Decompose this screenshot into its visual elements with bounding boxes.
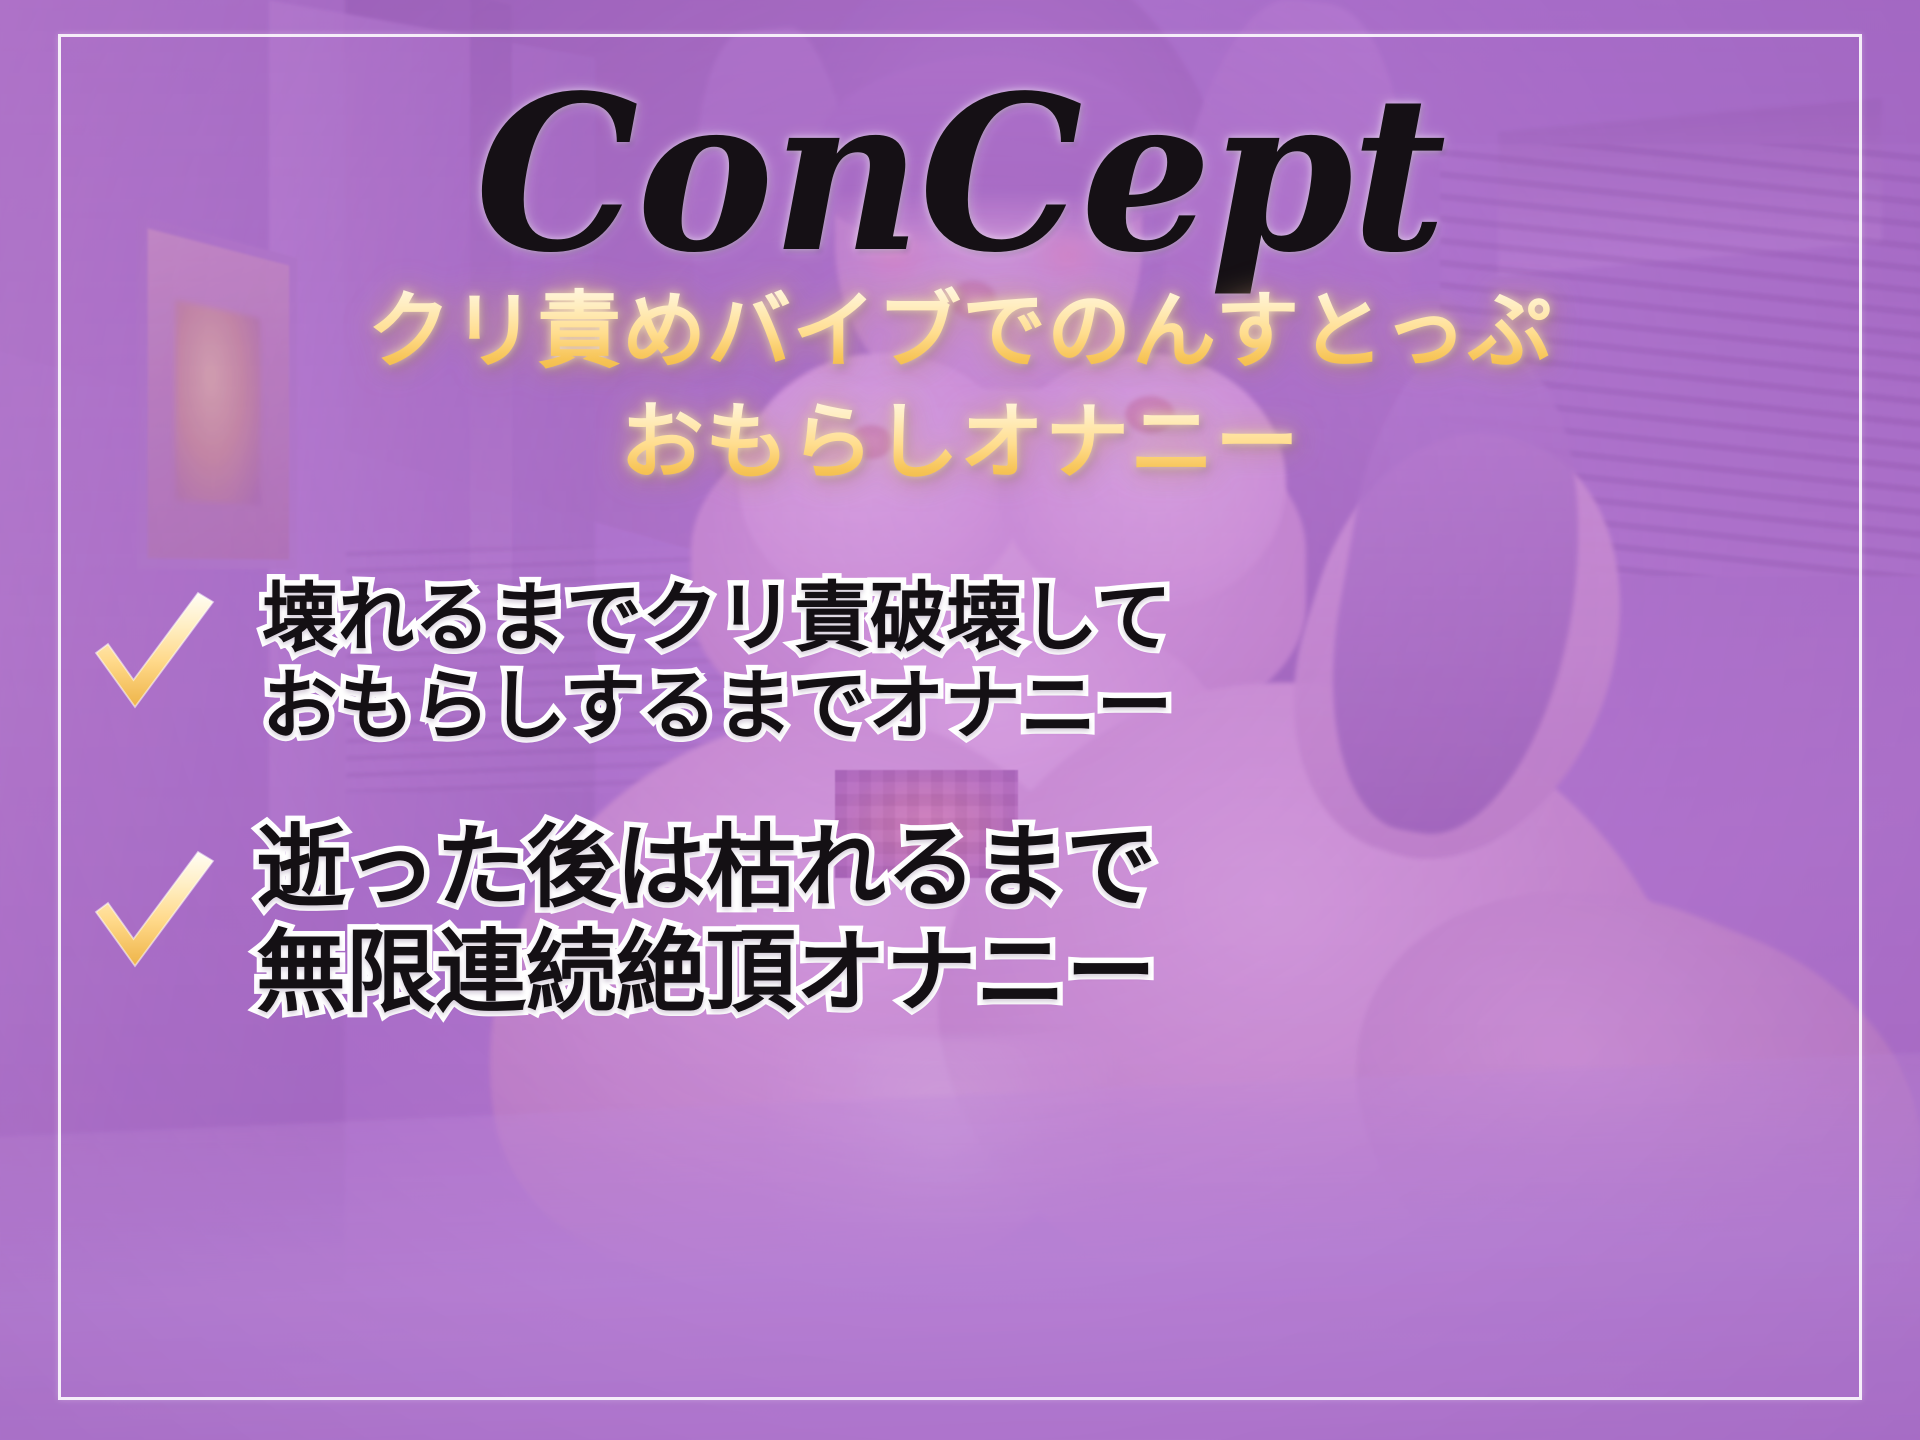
- list-item-line-1: 壊れるまでクリ責破壊して: [262, 574, 1172, 662]
- check-icon: [78, 846, 228, 996]
- list-item-line-2: 無限連続絶頂オナニー: [256, 921, 1156, 1025]
- card-content: ConCept クリ責めバイブでのんすとっぷ おもらしオナニー: [0, 0, 1920, 1440]
- concept-card: ConCept クリ責めバイブでのんすとっぷ おもらしオナニー: [0, 0, 1920, 1440]
- headline-line-2: おもらしオナニー: [367, 387, 1553, 498]
- check-icon: [78, 587, 228, 737]
- headline-line-1: クリ責めバイブでのんすとっぷ: [367, 276, 1553, 387]
- page-title: ConCept: [475, 66, 1444, 284]
- headline-block: クリ責めバイブでのんすとっぷ おもらしオナニー: [367, 276, 1553, 498]
- list-item-text: 逝った後は枯れるまで 無限連続絶頂オナニー: [256, 816, 1156, 1025]
- list-item-line-2: おもらしするまでオナニー: [262, 662, 1172, 750]
- bullet-list: 壊れるまでクリ責破壊して おもらしするまでオナニー: [0, 574, 1920, 1025]
- list-item-line-1: 逝った後は枯れるまで: [256, 816, 1156, 920]
- list-item: 逝った後は枯れるまで 無限連続絶頂オナニー: [0, 816, 1920, 1025]
- list-item: 壊れるまでクリ責破壊して おもらしするまでオナニー: [0, 574, 1920, 750]
- list-item-text: 壊れるまでクリ責破壊して おもらしするまでオナニー: [262, 574, 1172, 750]
